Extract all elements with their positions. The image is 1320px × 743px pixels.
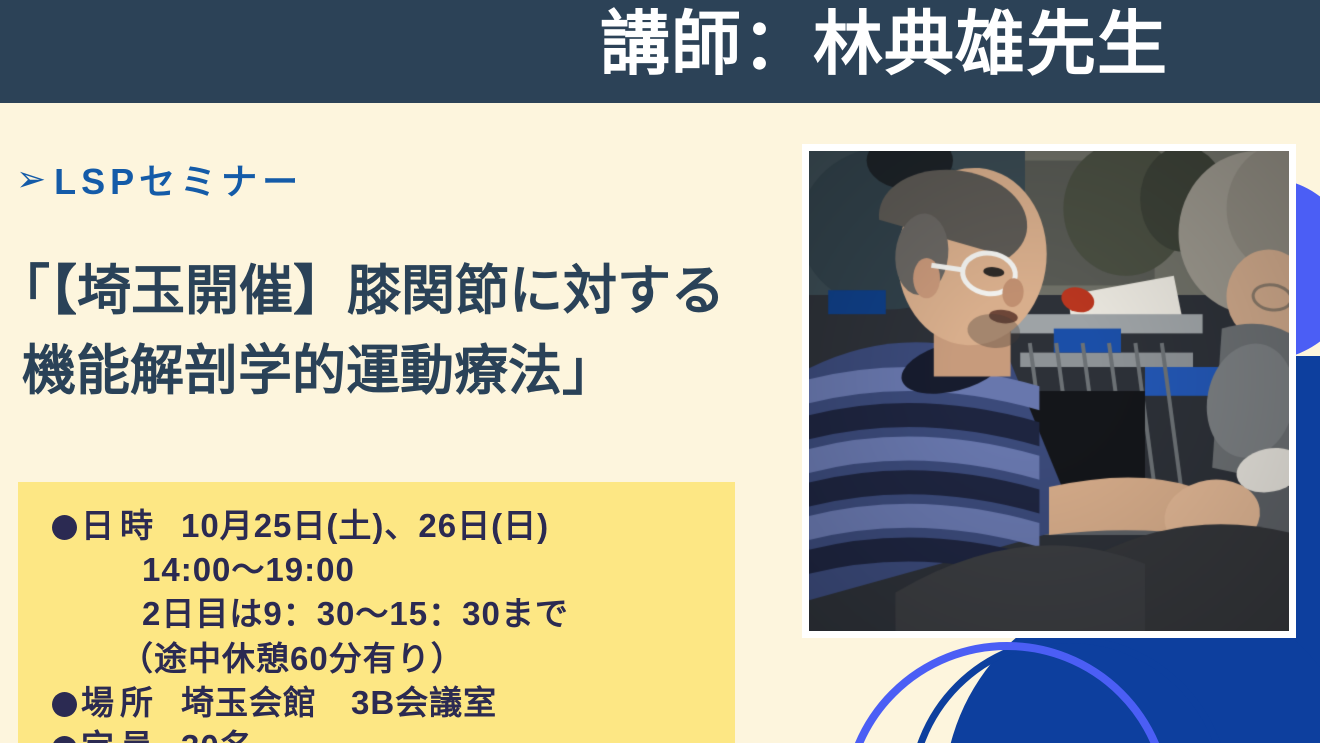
seminar-kicker: ➢ LSPセミナー xyxy=(16,153,303,205)
bullet-dot-icon xyxy=(52,515,77,540)
event-detail-row: 2日目は9：30～15：30まで xyxy=(52,592,735,636)
event-detail-row: （途中休憩60分有り） xyxy=(52,637,735,681)
page-title-line-1: 「【埼玉開催】膝関節に対する xyxy=(0,261,725,321)
event-detail-row: 14:00～19:00 xyxy=(52,548,735,592)
event-detail-value: （途中休憩60分有り） xyxy=(120,640,465,677)
event-detail-value: 2日目は9：30～15：30まで xyxy=(142,595,569,632)
event-detail-label: 日時 xyxy=(81,507,159,544)
event-detail-value: 14:00～19:00 xyxy=(142,551,355,588)
lecturer-title: 講師：林典雄先生 xyxy=(600,3,1168,86)
seminar-flyer-slide: 講師：林典雄先生 ➢ LSPセミナー 「【埼玉開催】膝関節に対する 機能解剖学的… xyxy=(0,0,1320,743)
page-title-line-2: 機能解剖学的運動療法」 xyxy=(0,332,796,412)
event-detail-value: 埼玉会館 3B会議室 xyxy=(181,684,497,721)
event-detail-row: 場所埼玉会館 3B会議室 xyxy=(52,681,735,725)
event-detail-row: 日時10月25日(土)、26日(日) xyxy=(52,504,735,548)
arrow-right-icon: ➢ xyxy=(16,161,51,197)
event-detail-row: 定員30名 xyxy=(52,725,735,743)
event-detail-value: 30名 xyxy=(181,728,254,743)
bullet-dot-icon xyxy=(52,736,77,743)
seminar-kicker-label: LSPセミナー xyxy=(54,153,303,205)
event-detail-label: 定員 xyxy=(81,728,159,743)
event-detail-label: 場所 xyxy=(81,684,159,721)
seminar-photo xyxy=(809,151,1289,631)
header-band: 講師：林典雄先生 xyxy=(0,0,1320,103)
event-detail-value: 10月25日(土)、26日(日) xyxy=(181,507,549,544)
seminar-photo-frame xyxy=(802,144,1296,638)
event-details-box: 日時10月25日(土)、26日(日)14:00～19:002日目は9：30～15… xyxy=(18,482,735,743)
bullet-dot-icon xyxy=(52,692,77,717)
page-title: 「【埼玉開催】膝関節に対する 機能解剖学的運動療法」 xyxy=(0,252,796,412)
